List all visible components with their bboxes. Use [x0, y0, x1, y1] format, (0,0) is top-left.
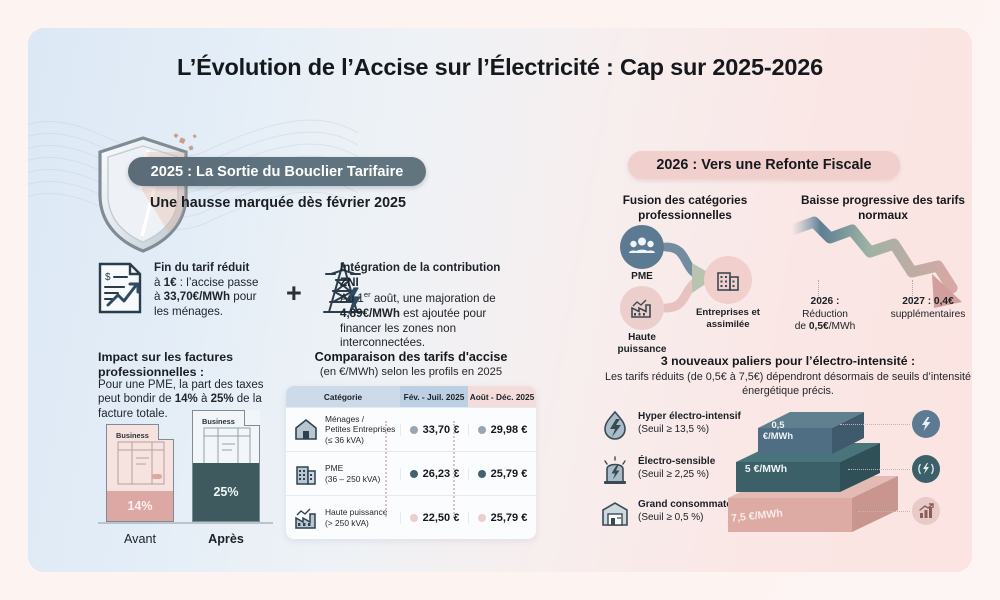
r3-l1: Haute puissance: [325, 507, 387, 517]
row-category-2: PME (36 – 250 kVA): [286, 462, 400, 486]
value-dot: [478, 470, 486, 478]
haute-puissance-label: Haute puissance: [606, 332, 678, 356]
badge-chart-up: [912, 497, 940, 525]
ann2026-l3a: de: [795, 321, 809, 332]
value-dot: [478, 426, 486, 434]
entreprises-circle: [704, 256, 752, 304]
r3-l3: (> 250 kVA): [325, 518, 369, 528]
tier-sensible-text: Électro-sensible (Seuil ≥ 2,25 %): [638, 455, 715, 481]
pyramid-label-middle: 5 €/MWh: [734, 464, 798, 475]
fusion-heading: Fusion des catégories professionnelles: [603, 193, 767, 222]
r1-l1: Ménages /: [325, 414, 364, 424]
svg-text:$: $: [105, 272, 111, 283]
tier-hyper-threshold: (Seuil ≥ 13,5 %): [638, 424, 709, 435]
row-category-2-text: PME (36 – 250 kVA): [325, 463, 380, 484]
point-2-b2: 4,89€/MWh: [340, 307, 400, 320]
pyr-v1: 0,5: [771, 419, 784, 430]
axis-label-apres: Après: [186, 532, 266, 546]
table-row: Ménages / Petites Entreprises (≤ 36 kVA)…: [286, 407, 536, 451]
ann2026-l1: 2026 :: [811, 296, 840, 307]
point-1-t1: à: [154, 276, 164, 289]
pyramid-label-top: 0,5 €/MWh: [756, 420, 800, 442]
row-1-value-2: 29,98 €: [468, 424, 536, 436]
col-header-categorie: Catégorie: [286, 386, 400, 407]
people-icon: [629, 236, 655, 258]
connector-dots-col2: [453, 421, 455, 517]
point-2-text: Intégration de la contribution ZNI Au 1e…: [340, 261, 520, 351]
chart-baseline: [98, 522, 273, 524]
tier-grand-threshold: (Seuil ≥ 0,5 %): [638, 512, 704, 523]
page-title: L’Évolution de l’Accise sur l’Électricit…: [28, 54, 972, 81]
bill-chart-icon: $: [94, 260, 146, 316]
ann2026-l2: Réduction: [802, 309, 848, 320]
tier-sensible-label: Électro-sensible: [638, 456, 715, 467]
infographic-card: L’Évolution de l’Accise sur l’Électricit…: [28, 28, 972, 572]
warehouse-icon: [600, 498, 630, 528]
bolt-monument-icon: [600, 455, 630, 485]
annotation-2026: 2026 : Réduction de 0,5€/MWh: [788, 296, 862, 334]
tier-grand-label: Grand consommateur: [638, 499, 742, 510]
badge-2026: 2026 : Vers une Refonte Fiscale: [628, 151, 900, 179]
avant-apres-chart: Business 14% Business: [98, 416, 273, 546]
table-title: Comparaison des tarifs d'accise: [286, 350, 536, 364]
subheading-2025: Une hausse marquée dès février 2025: [128, 195, 428, 211]
row-category-1: Ménages / Petites Entreprises (≤ 36 kVA): [286, 414, 400, 446]
entreprises-label: Entreprises et assimilée: [678, 307, 778, 330]
chart-up-icon: [918, 503, 935, 520]
annotation-2027: 2027 : 0,4€ supplémentaires: [876, 296, 972, 321]
row-category-3-text: Haute puissance (> 250 kVA): [325, 507, 387, 528]
value-dot: [410, 426, 418, 434]
factory-icon: [293, 506, 319, 530]
pme-label: PME: [612, 271, 672, 283]
bar-apres-value: 25%: [193, 463, 259, 521]
col-header-aout-dec: Août - Déc. 2025: [468, 386, 536, 407]
infographic-root: L’Évolution de l’Accise sur l’Électricit…: [0, 0, 1000, 600]
ann2027-l1: 2027 : 0,4€: [902, 296, 954, 307]
point-2-sup: er: [364, 290, 371, 299]
leader-line-1: [840, 424, 910, 425]
point-1-b3: 33,70€/MWh: [164, 290, 230, 303]
row-2-value-1: 26,23 €: [400, 468, 468, 480]
plus-symbol: +: [286, 278, 302, 309]
table-row: Haute puissance (> 250 kVA) 22,50 € 25,7…: [286, 495, 536, 539]
impact-title: Impact sur les factures professionnelles…: [98, 350, 278, 380]
r2-l1: PME: [325, 463, 343, 473]
factory-icon: [629, 297, 655, 319]
connector-dots-col1: [385, 421, 387, 517]
row-2-value-2: 25,79 €: [468, 468, 536, 480]
r2-v2: 25,79 €: [491, 468, 528, 480]
flame-bolt-icon: [600, 410, 630, 440]
ann2026-l3c: /MWh: [829, 321, 856, 332]
value-dot: [410, 470, 418, 478]
row-1-value-1: 33,70 €: [400, 424, 468, 436]
value-dot: [478, 514, 486, 522]
col-header-fev-juil: Fév. - Juil. 2025: [400, 386, 468, 407]
r1-l3: (≤ 36 kVA): [325, 435, 364, 445]
impact-t-b: à: [198, 393, 211, 405]
row-3-value-2: 25,79 €: [468, 512, 536, 524]
ann2027-l2: supplémentaires: [891, 309, 966, 320]
tier-sensible-threshold: (Seuil ≥ 2,25 %): [638, 469, 709, 480]
point-2-bold: Intégration de la contribution ZNI: [340, 261, 500, 289]
table-row: PME (36 – 250 kVA) 26,23 € 25,79 €: [286, 451, 536, 495]
badge-2025: 2025 : La Sortie du Bouclier Tarifaire: [128, 157, 426, 186]
point-1-b2: 1€: [164, 276, 177, 289]
point-2-t2: août, une majoration de: [371, 292, 496, 305]
pme-circle: [620, 225, 664, 269]
leader-line-2: [848, 469, 910, 470]
paliers-title: 3 nouveaux paliers pour l’électro-intens…: [603, 354, 972, 368]
bar-avant-value: 14%: [107, 491, 173, 521]
office-building-icon: [293, 462, 319, 486]
haute-puissance-circle: [620, 286, 664, 330]
value-dot: [410, 514, 418, 522]
r2-l3: (36 – 250 kVA): [325, 474, 380, 484]
table-header-row: Catégorie Fév. - Juil. 2025 Août - Déc. …: [286, 386, 536, 407]
point-2-t1: Au 1: [340, 292, 364, 305]
impact-b-b: 25%: [211, 393, 234, 405]
bolt-waves-icon: [916, 460, 936, 478]
leader-line-3: [858, 511, 910, 512]
house-icon: [293, 417, 319, 441]
pyr-u1: €/MWh: [763, 430, 793, 441]
table-subtitle: (en €/MWh) selon les profils en 2025: [286, 366, 536, 378]
row-3-value-1: 22,50 €: [400, 512, 468, 524]
tier-hyper-text: Hyper électro-intensif (Seuil ≥ 13,5 %): [638, 410, 741, 436]
bar-apres: Business 25%: [192, 410, 260, 522]
row-category-3: Haute puissance (> 250 kVA): [286, 506, 400, 530]
r3-v2: 25,79 €: [491, 512, 528, 524]
point-1-bold: Fin du tarif réduit: [154, 261, 249, 274]
badge-bolt: [912, 410, 940, 438]
paliers-subtitle: Les tarifs réduits (de 0,5€ à 7,5€) dépe…: [603, 370, 972, 398]
office-building-icon: [714, 267, 742, 293]
axis-label-avant: Avant: [100, 532, 180, 546]
badge-bolt-waves: [912, 455, 940, 483]
doc-lines-avant: [116, 438, 166, 488]
r1-v2: 29,98 €: [491, 424, 528, 436]
point-1-text: Fin du tarif réduit à 1€ : l’accise pass…: [154, 261, 266, 320]
ann2026-l3b: 0,5€: [809, 321, 829, 332]
impact-b-a: 14%: [175, 393, 198, 405]
bolt-icon: [918, 416, 934, 432]
bar-avant: Business 14%: [106, 424, 174, 522]
tarifs-table: Catégorie Fév. - Juil. 2025 Août - Déc. …: [286, 386, 536, 539]
tier-hyper-label: Hyper électro-intensif: [638, 411, 741, 422]
